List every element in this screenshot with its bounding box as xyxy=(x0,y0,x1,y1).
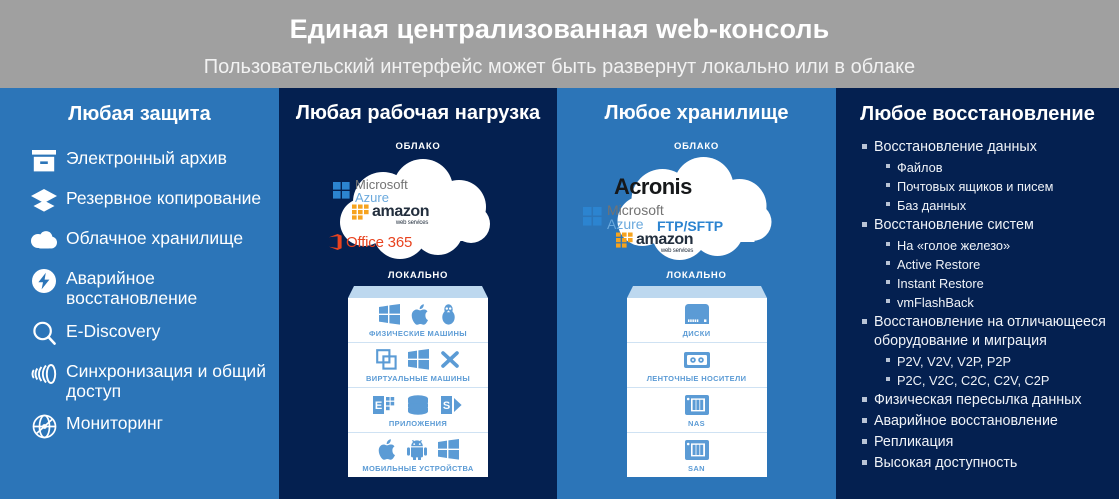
bullet-label: Баз данных xyxy=(897,195,966,214)
feature-label: Мониторинг xyxy=(66,411,163,433)
bullet-label: Восстановление систем xyxy=(874,214,1034,235)
windows-icon xyxy=(408,349,429,370)
bullet-square-icon xyxy=(862,452,874,465)
bullet-item[interactable]: Высокая доступность xyxy=(862,452,1113,473)
cloud-graphic-workload: Microsoft Azure amazon web services xyxy=(279,156,557,268)
local-row-physical-machines[interactable]: ФИЗИЧЕСКИЕ МАШИНЫ xyxy=(348,298,488,343)
bullet-label: Instant Restore xyxy=(897,273,984,292)
bullet-square-icon xyxy=(886,157,897,168)
bullet-square-icon xyxy=(862,214,874,227)
local-row-caption: SAN xyxy=(627,464,767,473)
bullet-label: Восстановление на отличающееся оборудова… xyxy=(874,311,1113,351)
san-server-icon xyxy=(684,439,710,461)
feature-label: Резервное копирование xyxy=(66,186,261,208)
feature-label: Электронный архив xyxy=(66,146,227,168)
virtual-machines-icons xyxy=(348,348,488,372)
bullet-label: На «голое железо» xyxy=(897,235,1010,254)
bullet-square-icon xyxy=(886,195,897,206)
local-label-storage: ЛОКАЛЬНО xyxy=(557,270,836,281)
bullet-square-icon xyxy=(886,292,897,303)
bullet-item[interactable]: Восстановление данных xyxy=(862,136,1113,157)
page-title: Единая централизованная web-консоль xyxy=(0,0,1119,43)
local-row-disks[interactable]: ДИСКИ xyxy=(627,298,767,343)
feature-item-cloud-storage[interactable]: Облачное хранилище xyxy=(22,226,279,256)
local-box-body: ФИЗИЧЕСКИЕ МАШИНЫ ВИРТУАЛЬНЫЕ МАШИНЫ E xyxy=(348,298,488,477)
bullet-label: P2C, V2C, C2C, C2V, C2P xyxy=(897,370,1049,389)
cloud-logos-workload: Microsoft Azure amazon web services xyxy=(279,156,557,268)
windows-icon xyxy=(438,439,459,460)
bullet-square-icon xyxy=(886,273,897,284)
bullet-label: Active Restore xyxy=(897,254,980,273)
column-protection: Любая защита Электронный архив Резервное… xyxy=(0,88,279,499)
sql-database-icon xyxy=(406,395,430,415)
bullet-square-icon xyxy=(862,389,874,402)
feature-label: Облачное хранилище xyxy=(66,226,243,248)
column-title-storage: Любое хранилище xyxy=(557,88,836,127)
local-box-lid xyxy=(348,286,488,298)
amazon-web-services-logo: amazon web services xyxy=(351,204,429,226)
android-icon xyxy=(407,439,427,460)
azure-wordmark: Microsoft Azure xyxy=(607,203,664,232)
microsoft-azure-logo: Microsoft Azure xyxy=(333,178,408,205)
citrix-x-icon xyxy=(440,349,460,370)
bullet-item[interactable]: Файлов xyxy=(862,157,1113,176)
local-label-workload: ЛОКАЛЬНО xyxy=(279,270,557,281)
cloud-graphic-storage: Acronis Microsoft Azure FTP/SFTP xyxy=(557,156,836,268)
vmware-squares-icon xyxy=(376,349,397,370)
bullet-label: vmFlashBack xyxy=(897,292,974,311)
amazon-web-services-logo: amazon web services xyxy=(615,232,693,254)
archive-box-icon xyxy=(22,146,66,176)
bullet-label: Физическая пересылка данных xyxy=(874,389,1082,410)
san-icons xyxy=(627,438,767,462)
svg-text:S: S xyxy=(443,400,450,412)
bullet-item[interactable]: Баз данных xyxy=(862,195,1113,214)
local-row-caption: МОБИЛЬНЫЕ УСТРОЙСТВА xyxy=(348,464,488,473)
cloud-label-storage: ОБЛАКО xyxy=(557,141,836,152)
cloud-logos-storage: Acronis Microsoft Azure FTP/SFTP xyxy=(557,156,836,268)
office-365-wordmark: Office 365 xyxy=(346,234,412,251)
feature-label: E-Discovery xyxy=(66,319,160,341)
linux-penguin-icon xyxy=(440,304,457,325)
aws-blocks-icon xyxy=(351,204,371,220)
feature-label: Синхронизация и общий доступ xyxy=(66,359,271,402)
amazon-wordmark: amazon xyxy=(372,204,429,219)
bullet-item[interactable]: Восстановление на отличающееся оборудова… xyxy=(862,311,1113,351)
svg-text:E: E xyxy=(375,400,382,412)
local-box-body: ДИСКИ ЛЕНТОЧНЫЕ НОСИТЕЛИ xyxy=(627,298,767,477)
recovery-bullet-list: Восстановление данных Файлов Почтовых ящ… xyxy=(836,136,1119,473)
office-icon xyxy=(329,234,342,250)
nas-icons xyxy=(627,393,767,417)
local-row-caption: ДИСКИ xyxy=(627,329,767,338)
cloud-icon xyxy=(22,226,66,256)
slide-header: Единая централизованная web-консоль Поль… xyxy=(0,0,1119,88)
lightning-bolt-icon xyxy=(22,266,66,296)
magnifier-icon xyxy=(22,319,66,349)
aws-row: amazon xyxy=(615,232,693,248)
feature-item-ediscovery[interactable]: E-Discovery xyxy=(22,319,279,349)
bullet-label: Восстановление данных xyxy=(874,136,1037,157)
bullet-item[interactable]: vmFlashBack xyxy=(862,292,1113,311)
azure-wordmark: Microsoft Azure xyxy=(355,178,408,205)
windows-icon xyxy=(333,182,350,199)
column-title-recovery: Любое восстановление xyxy=(836,88,1119,128)
monitoring-radar-icon xyxy=(22,411,66,441)
microsoft-azure-logo: Microsoft Azure xyxy=(583,203,664,232)
bullet-label: Репликация xyxy=(874,431,953,452)
local-box-workload: ФИЗИЧЕСКИЕ МАШИНЫ ВИРТУАЛЬНЫЕ МАШИНЫ E xyxy=(348,286,488,477)
feature-item-archive[interactable]: Электронный архив xyxy=(22,146,279,176)
bullet-item[interactable]: P2C, V2C, C2C, C2V, C2P xyxy=(862,370,1113,389)
local-row-mobile-devices[interactable]: МОБИЛЬНЫЕ УСТРОЙСТВА xyxy=(348,433,488,477)
bullet-square-icon xyxy=(862,410,874,423)
nas-server-icon xyxy=(684,394,710,416)
bullet-square-icon xyxy=(886,370,897,381)
exchange-icon: E xyxy=(373,395,395,415)
disks-icons xyxy=(627,303,767,327)
local-row-caption: ЛЕНТОЧНЫЕ НОСИТЕЛИ xyxy=(627,374,767,383)
local-row-caption: NAS xyxy=(627,419,767,428)
bullet-item[interactable]: Почтовых ящиков и писем xyxy=(862,176,1113,195)
sharepoint-icon: S xyxy=(441,395,463,415)
feature-label: Аварийное восстановление xyxy=(66,266,271,309)
local-row-nas[interactable]: NAS xyxy=(627,388,767,433)
bullet-item[interactable]: Репликация xyxy=(862,431,1113,452)
bullet-label: P2V, V2V, V2P, P2P xyxy=(897,351,1011,370)
bullet-item[interactable]: Instant Restore xyxy=(862,273,1113,292)
physical-machines-icons xyxy=(348,303,488,327)
bullet-item[interactable]: Физическая пересылка данных xyxy=(862,389,1113,410)
local-row-virtual-machines[interactable]: ВИРТУАЛЬНЫЕ МАШИНЫ xyxy=(348,343,488,388)
bullet-square-icon xyxy=(886,351,897,362)
bullet-item[interactable]: P2V, V2V, V2P, P2P xyxy=(862,351,1113,370)
column-title-workload: Любая рабочая нагрузка xyxy=(279,88,557,127)
bullet-label: Высокая доступность xyxy=(874,452,1017,473)
aws-subtext: web services xyxy=(396,220,428,226)
local-box-lid xyxy=(627,286,767,298)
office-365-logo: Office 365 xyxy=(329,234,412,251)
feature-item-sync-share[interactable]: Синхронизация и общий доступ xyxy=(22,359,279,402)
bullet-item[interactable]: На «голое железо» xyxy=(862,235,1113,254)
tape-cartridge-icon xyxy=(683,350,711,370)
layers-icon xyxy=(22,186,66,216)
windows-icon xyxy=(379,304,400,325)
hard-disk-icon xyxy=(682,304,712,326)
tape-icons xyxy=(627,348,767,372)
aws-subtext: web services xyxy=(661,248,693,254)
feature-item-monitoring[interactable]: Мониторинг xyxy=(22,411,279,441)
local-row-applications[interactable]: E S ПРИЛОЖЕНИЯ xyxy=(348,388,488,433)
applications-icons: E S xyxy=(348,393,488,417)
bullet-item[interactable]: Восстановление систем xyxy=(862,214,1113,235)
local-row-caption: ПРИЛОЖЕНИЯ xyxy=(348,419,488,428)
bullet-label: Файлов xyxy=(897,157,943,176)
bullet-label: Аварийное восстановление xyxy=(874,410,1058,431)
cloud-label-workload: ОБЛАКО xyxy=(279,141,557,152)
aws-blocks-icon xyxy=(615,232,635,248)
local-box-storage: ДИСКИ ЛЕНТОЧНЫЕ НОСИТЕЛИ xyxy=(627,286,767,477)
slide-root: Единая централизованная web-консоль Поль… xyxy=(0,0,1119,499)
bullet-square-icon xyxy=(862,431,874,444)
bullet-square-icon xyxy=(862,311,874,324)
local-row-tapes[interactable]: ЛЕНТОЧНЫЕ НОСИТЕЛИ xyxy=(627,343,767,388)
mobile-devices-icons xyxy=(348,438,488,462)
local-row-san[interactable]: SAN xyxy=(627,433,767,477)
feature-item-disaster-recovery[interactable]: Аварийное восстановление xyxy=(22,266,279,309)
apple-icon xyxy=(378,439,396,460)
bullet-label: Почтовых ящиков и писем xyxy=(897,176,1053,195)
bullet-item[interactable]: Аварийное восстановление xyxy=(862,410,1113,431)
bullet-item[interactable]: Active Restore xyxy=(862,254,1113,273)
bullet-square-icon xyxy=(886,235,897,246)
page-subtitle: Пользовательский интерфейс может быть ра… xyxy=(0,43,1119,77)
amazon-wordmark: amazon xyxy=(636,232,693,247)
feature-item-backup[interactable]: Резервное копирование xyxy=(22,186,279,216)
column-workload: Любая рабочая нагрузка ОБЛАКО Mic xyxy=(279,88,557,499)
apple-icon xyxy=(411,304,429,325)
local-row-caption: ФИЗИЧЕСКИЕ МАШИНЫ xyxy=(348,329,488,338)
bullet-square-icon xyxy=(862,136,874,149)
columns-container: Любая защита Электронный архив Резервное… xyxy=(0,88,1119,499)
sync-waves-icon xyxy=(22,359,66,389)
local-row-caption: ВИРТУАЛЬНЫЕ МАШИНЫ xyxy=(348,374,488,383)
column-storage: Любое хранилище ОБЛАКО Acronis xyxy=(557,88,836,499)
column-recovery: Любое восстановление Восстановление данн… xyxy=(836,88,1119,499)
protection-feature-list: Электронный архив Резервное копирование … xyxy=(0,146,279,442)
bullet-square-icon xyxy=(886,176,897,187)
acronis-wordmark: Acronis xyxy=(614,174,692,200)
column-title-protection: Любая защита xyxy=(0,88,279,128)
aws-row: amazon xyxy=(351,204,429,220)
bullet-square-icon xyxy=(886,254,897,265)
windows-icon xyxy=(583,207,602,226)
